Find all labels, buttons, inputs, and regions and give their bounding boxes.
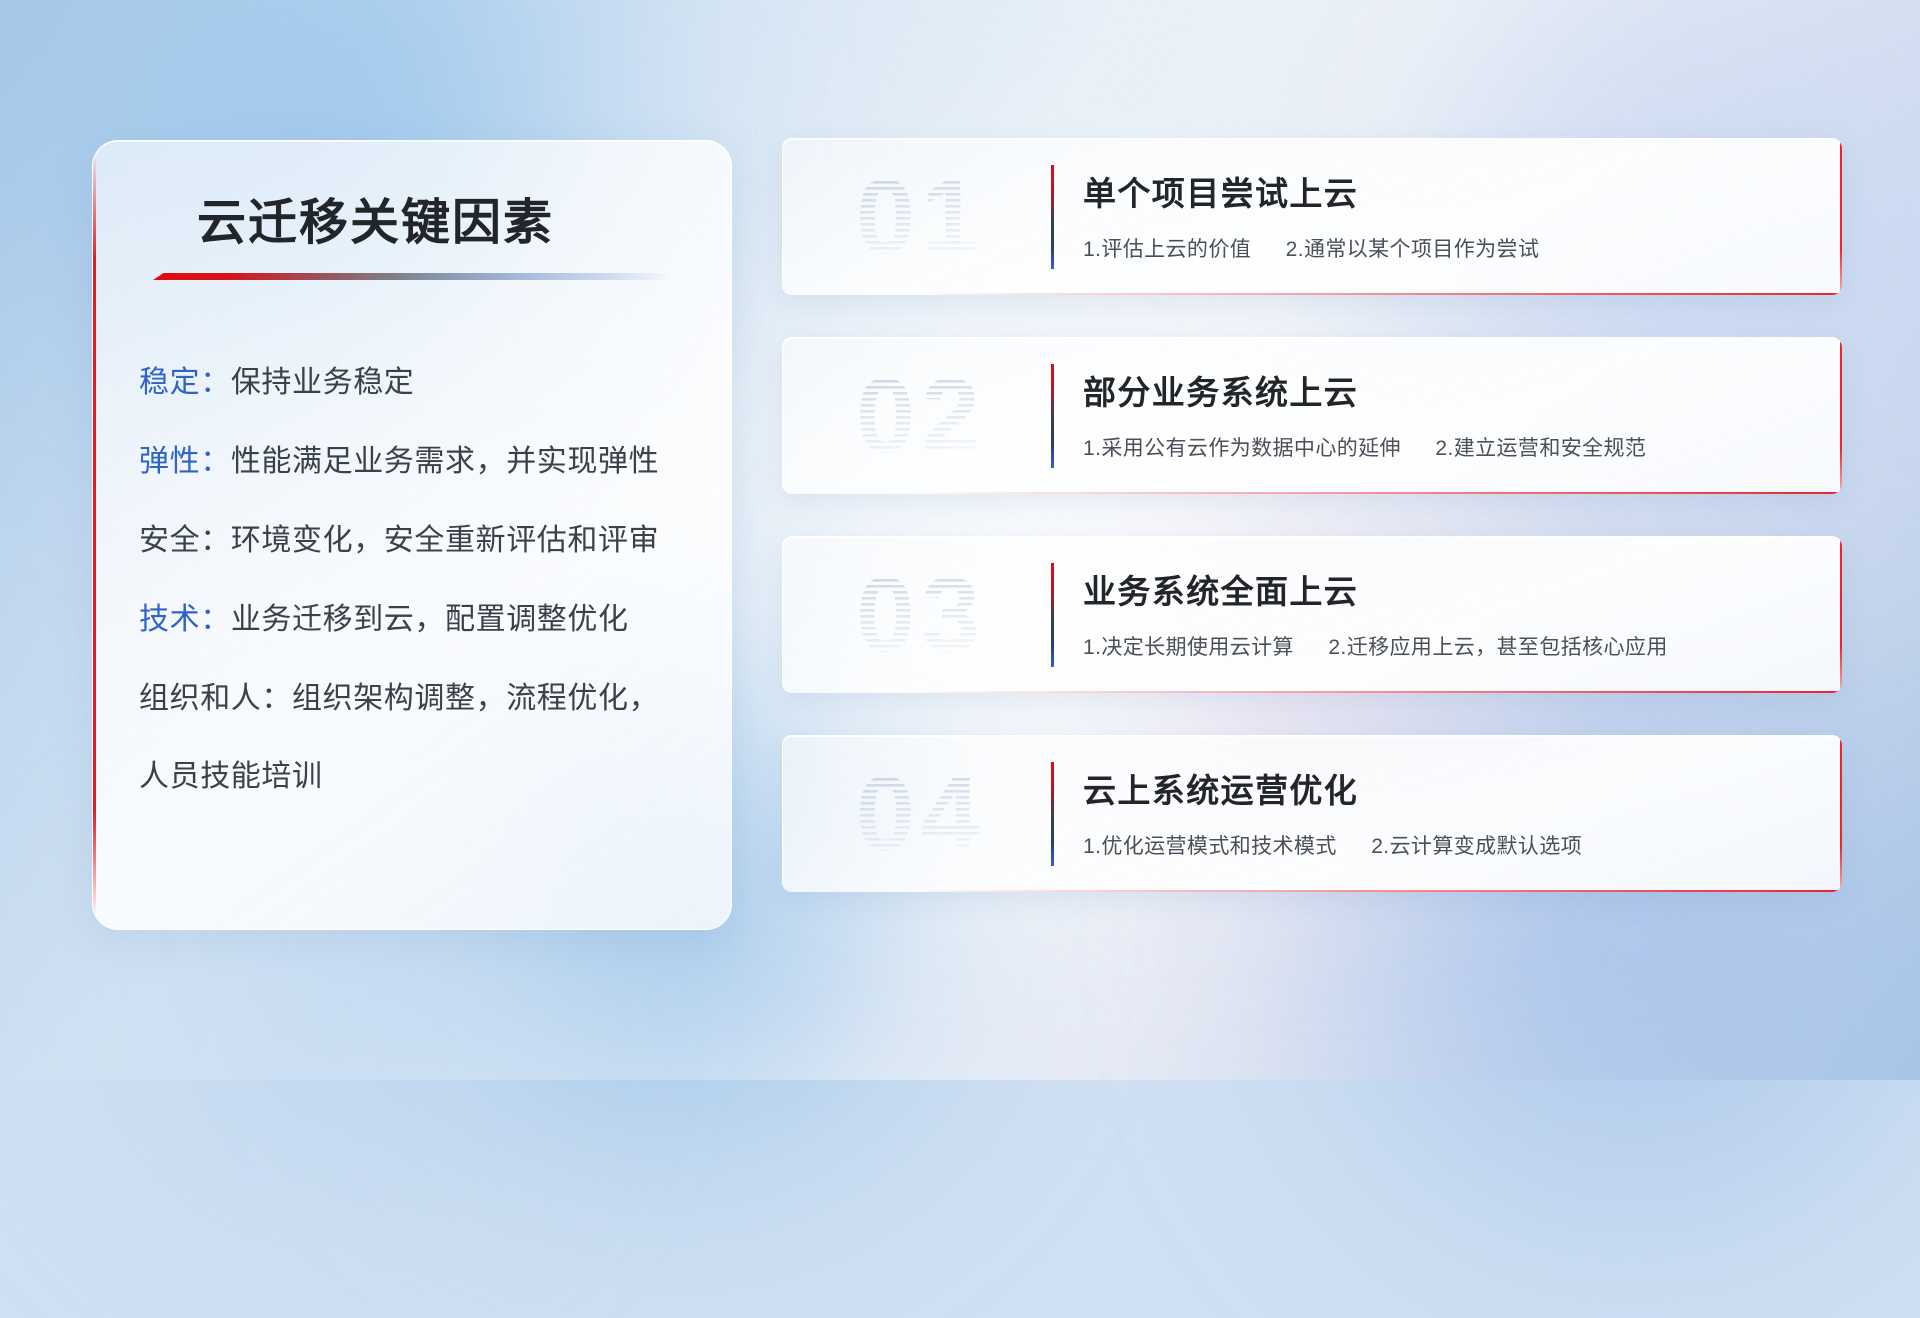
list-item: 组织和人：组织架构调整，流程优化， (139, 679, 701, 719)
card-body: 部分业务系统上云 1.采用公有云作为数据中心的延伸 2.建立运营和安全规范 (1083, 366, 1812, 462)
card-divider-bar (1051, 563, 1054, 667)
stage-number-02-icon: 02 (811, 356, 1031, 476)
card-point-2: 2.建立运营和安全规范 (1435, 437, 1646, 460)
card-title: 单个项目尝试上云 (1083, 167, 1812, 215)
card-subtitle: 1.评估上云的价值 2.通常以某个项目作为尝试 (1083, 233, 1812, 263)
stage-card[interactable]: 01 单个项目尝试上云 1.评估上云的价值 2.通常以某个项目作为尝试 (782, 138, 1842, 295)
card-title: 部分业务系统上云 (1083, 366, 1812, 414)
card-point-1: 1.评估上云的价值 (1083, 238, 1251, 261)
list-item: 弹性：性能满足业务需求，并实现弹性 (139, 442, 701, 482)
list-item: 安全：环境变化，安全重新评估和评审 (139, 521, 701, 561)
factor-label: 弹性： (139, 445, 231, 478)
card-divider-bar (1051, 364, 1054, 468)
card-point-2: 2.通常以某个项目作为尝试 (1286, 238, 1540, 261)
stage-card[interactable]: 03 业务系统全面上云 1.决定长期使用云计算 2.迁移应用上云，甚至包括核心应… (782, 536, 1842, 693)
factor-label: 安全： (139, 524, 231, 557)
factor-label: 稳定： (139, 366, 231, 399)
factor-label: 技术： (139, 603, 231, 636)
card-bottom-accent (910, 492, 1842, 494)
card-bottom-accent (910, 890, 1842, 892)
card-subtitle: 1.决定长期使用云计算 2.迁移应用上云，甚至包括核心应用 (1083, 631, 1812, 661)
card-divider-bar (1051, 165, 1054, 269)
card-point-2: 2.迁移应用上云，甚至包括核心应用 (1328, 636, 1667, 659)
card-right-accent (1840, 139, 1842, 295)
card-subtitle: 1.优化运营模式和技术模式 2.云计算变成默认选项 (1083, 830, 1812, 860)
list-item: 人员技能培训 (139, 757, 701, 797)
factor-text: 保持业务稳定 (231, 366, 415, 399)
card-body: 单个项目尝试上云 1.评估上云的价值 2.通常以某个项目作为尝试 (1083, 167, 1812, 263)
factor-text: 环境变化，安全重新评估和评审 (231, 524, 659, 557)
card-title: 云上系统运营优化 (1083, 764, 1812, 812)
factor-text: 业务迁移到云，配置调整优化 (231, 603, 629, 636)
card-point-2: 2.云计算变成默认选项 (1371, 835, 1582, 858)
stage-number-03-icon: 03 (811, 555, 1031, 675)
key-factors-panel: 云迁移关键因素 稳定：保持业务稳定 弹性：性能满足业务需求，并实现弹性 安全：环… (92, 140, 732, 930)
card-body: 云上系统运营优化 1.优化运营模式和技术模式 2.云计算变成默认选项 (1083, 764, 1812, 860)
stage-number-text: 03 (856, 556, 986, 674)
stage-card[interactable]: 04 云上系统运营优化 1.优化运营模式和技术模式 2.云计算变成默认选项 (782, 735, 1842, 892)
factor-text: 人员技能培训 (139, 760, 323, 793)
panel-red-accent-bar (93, 153, 96, 917)
card-right-accent (1840, 338, 1842, 494)
stage-number-04-icon: 04 (811, 754, 1031, 874)
factor-text: 性能满足业务需求，并实现弹性 (231, 445, 659, 478)
stage-number-text: 04 (856, 755, 986, 873)
card-right-accent (1840, 736, 1842, 892)
card-body: 业务系统全面上云 1.决定长期使用云计算 2.迁移应用上云，甚至包括核心应用 (1083, 565, 1812, 661)
card-point-1: 1.优化运营模式和技术模式 (1083, 835, 1337, 858)
card-subtitle: 1.采用公有云作为数据中心的延伸 2.建立运营和安全规范 (1083, 432, 1812, 462)
card-right-accent (1840, 537, 1842, 693)
stage-card[interactable]: 02 部分业务系统上云 1.采用公有云作为数据中心的延伸 2.建立运营和安全规范 (782, 337, 1842, 494)
card-divider-bar (1051, 762, 1054, 866)
stage-number-01-icon: 01 (811, 157, 1031, 277)
card-bottom-accent (910, 293, 1842, 295)
factor-list: 稳定：保持业务稳定 弹性：性能满足业务需求，并实现弹性 安全：环境变化，安全重新… (139, 363, 701, 797)
list-item: 稳定：保持业务稳定 (139, 363, 701, 403)
card-point-1: 1.采用公有云作为数据中心的延伸 (1083, 437, 1401, 460)
card-title: 业务系统全面上云 (1083, 565, 1812, 613)
stage-number-text: 02 (856, 357, 986, 475)
page-title: 云迁移关键因素 (197, 183, 554, 254)
slide-stage: 云迁移关键因素 稳定：保持业务稳定 弹性：性能满足业务需求，并实现弹性 安全：环… (0, 0, 1920, 1080)
title-underline-rule (153, 273, 673, 280)
factor-text: 组织架构调整，流程优化， (292, 682, 659, 715)
stage-card-list: 01 单个项目尝试上云 1.评估上云的价值 2.通常以某个项目作为尝试 (782, 138, 1842, 892)
stage-number-text: 01 (856, 158, 986, 276)
list-item: 技术：业务迁移到云，配置调整优化 (139, 600, 701, 640)
factor-label: 组织和人： (139, 682, 292, 715)
card-point-1: 1.决定长期使用云计算 (1083, 636, 1294, 659)
card-bottom-accent (910, 691, 1842, 693)
